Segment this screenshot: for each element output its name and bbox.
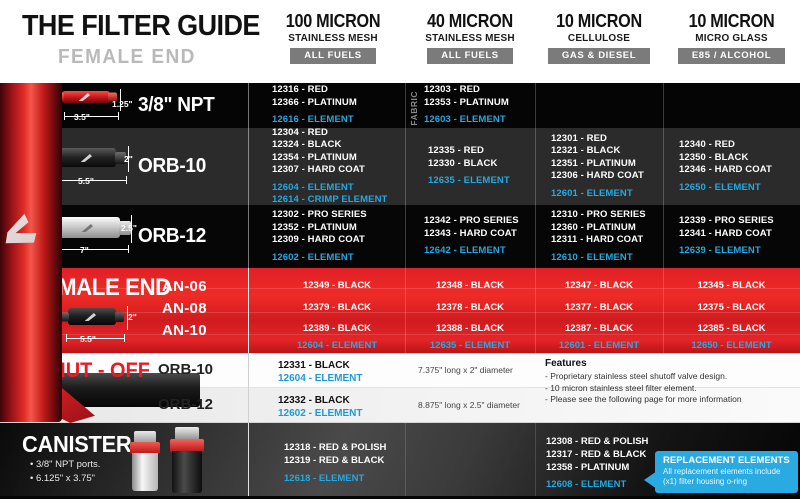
part-number: 12335 - RED xyxy=(428,145,548,158)
product-image-orb12 xyxy=(58,217,120,238)
dimension-length-npt: 3.5" xyxy=(74,112,90,122)
product-image-orb10 xyxy=(60,148,116,167)
callout-text: All replacement elements include (x1) fi… xyxy=(663,467,792,487)
part-number: 12324 - BLACK xyxy=(272,139,404,152)
product-image-npt xyxy=(62,91,110,103)
part-number: 12352 - PLATINUM xyxy=(272,222,404,235)
row-label-orb12: ORB-12 xyxy=(138,205,252,268)
part-number: 12360 - PLATINUM xyxy=(551,222,676,235)
part-number-element: 12601 - ELEMENT xyxy=(551,188,671,201)
part-number-element: 12616 - ELEMENT xyxy=(272,114,402,127)
part-number: 12316 - RED xyxy=(272,84,402,97)
cell-r1-c0: 12304 - RED 12324 - BLACK 12354 - PLATIN… xyxy=(272,128,404,205)
an-size-10: AN-10 xyxy=(162,322,207,339)
column-fuel-badge: ALL FUELS xyxy=(290,48,375,64)
canister-bullet-1: • 3/8" NPT ports. xyxy=(30,459,100,470)
cell-r1-c2: 12301 - RED 12321 - BLACK 12351 - PLATIN… xyxy=(551,128,671,205)
part-number-element: 12604 - ELEMENT xyxy=(278,372,362,385)
shutoff-row-label-orb12: ORB-12 xyxy=(158,396,213,413)
part-number: 12379 - BLACK xyxy=(272,302,402,313)
part-number: 12377 - BLACK xyxy=(535,302,663,313)
cell-r2-c2: 12310 - PRO SERIES 12360 - PLATINUM 1231… xyxy=(551,205,676,268)
part-number: 12331 - BLACK xyxy=(278,359,362,372)
part-number-element: 12604 - ELEMENT xyxy=(272,340,402,351)
part-number: 12366 - PLATINUM xyxy=(272,97,402,110)
canister-part-4: 12317 - RED & BLACK xyxy=(546,448,646,461)
fuel-bottle-image xyxy=(0,62,62,422)
cell-r2-c3: 12339 - PRO SERIES 12341 - HARD COAT 126… xyxy=(679,205,800,268)
part-number: 12387 - BLACK xyxy=(535,323,663,334)
part-number: 12310 - PRO SERIES xyxy=(551,209,676,222)
part-number-element: 12635 - ELEMENT xyxy=(428,175,548,188)
dimension-diameter-npt: 1.25" xyxy=(112,99,133,109)
part-number-element: 12642 - ELEMENT xyxy=(424,245,549,258)
column-material: CELLULOSE xyxy=(538,32,660,44)
row-label-npt: 3/8" NPT xyxy=(138,83,252,128)
cell-r0-c0: 12316 - RED 12366 - PLATINUM 12616 - ELE… xyxy=(272,83,402,128)
column-header-4: 10 MICRON MICRO GLASS E85 / ALCOHOL xyxy=(663,12,800,64)
part-number: 12378 - BLACK xyxy=(405,302,535,313)
column-micron: 40 MICRON xyxy=(412,12,529,31)
canister-part-5: 12358 - PLATINUM xyxy=(546,461,629,474)
part-number-element: 12650 - ELEMENT xyxy=(679,182,800,195)
part-number: 12342 - PRO SERIES xyxy=(424,215,549,228)
callout-title: REPLACEMENT ELEMENTS xyxy=(663,455,792,466)
row-label-orb10: ORB-10 xyxy=(138,128,252,205)
canister-bullet-2: • 6.125" x 3.75" xyxy=(30,473,95,484)
feature-item: - Proprietary stainless steel shutoff va… xyxy=(545,371,742,383)
filter-guide-page: THE FILTER GUIDE FEMALE END 100 MICRON S… xyxy=(0,0,800,499)
part-number-element: 12610 - ELEMENT xyxy=(551,252,676,265)
part-number-element: 12603 - ELEMENT xyxy=(424,114,554,127)
an-size-06: AN-06 xyxy=(162,278,207,295)
shutoff-row-label-orb10: ORB-10 xyxy=(158,361,213,378)
part-number: 12349 - BLACK xyxy=(272,280,402,291)
column-material: MICRO GLASS xyxy=(666,32,796,44)
column-material: STAINLESS MESH xyxy=(267,32,400,44)
table-row-orb10: 5.5" 2" ORB-10 12304 - RED 12324 - BLACK… xyxy=(0,128,800,205)
male-end-section: MALE END 5.5" 2" AN-06 AN-08 AN-10 123 xyxy=(0,268,800,353)
part-number: 12351 - PLATINUM xyxy=(551,158,671,171)
part-number: 12345 - BLACK xyxy=(663,280,800,291)
column-header-2: 40 MICRON STAINLESS MESH ALL FUELS xyxy=(405,12,535,64)
part-number-element: 12602 - ELEMENT xyxy=(272,252,404,265)
part-number: 12339 - PRO SERIES xyxy=(679,215,800,228)
column-header-1: 100 MICRON STAINLESS MESH ALL FUELS xyxy=(263,12,403,64)
part-number: 12388 - BLACK xyxy=(405,323,535,334)
section-label-canister: CANISTER xyxy=(22,431,131,458)
page-header: THE FILTER GUIDE FEMALE END 100 MICRON S… xyxy=(0,0,800,83)
features-title: Features xyxy=(545,358,742,369)
part-number: 12332 - BLACK xyxy=(278,394,362,407)
part-number: 12348 - BLACK xyxy=(405,280,535,291)
part-number: 12340 - RED xyxy=(679,139,800,152)
part-number-element: 12639 - ELEMENT xyxy=(679,245,800,258)
part-number: 12347 - BLACK xyxy=(535,280,663,291)
section-label-female-end: FEMALE END xyxy=(58,46,196,69)
dimension-length-male: 5.5" xyxy=(80,334,96,344)
female-end-table: 3.5" 1.25" 3/8" NPT FABRIC 12316 - RED 1… xyxy=(0,83,800,499)
product-image-male xyxy=(68,308,116,325)
part-number-element: 12650 - ELEMENT xyxy=(663,340,800,351)
replacement-elements-callout: REPLACEMENT ELEMENTS All replacement ele… xyxy=(655,451,798,493)
part-number: 12346 - HARD COAT xyxy=(679,164,800,177)
column-header-3: 10 MICRON CELLULOSE GAS & DIESEL xyxy=(535,12,663,64)
cell-r2-c0: 12302 - PRO SERIES 12352 - PLATINUM 1230… xyxy=(272,205,404,268)
column-fuel-badge: GAS & DIESEL xyxy=(548,48,650,64)
part-number-element: 12601 - ELEMENT xyxy=(535,340,663,351)
column-micron: 10 MICRON xyxy=(670,12,793,31)
part-number-element: 12635 - ELEMENT xyxy=(405,340,535,351)
canister-part-2: 12319 - RED & BLACK xyxy=(284,454,384,467)
part-number: 12302 - PRO SERIES xyxy=(272,209,404,222)
dimension-diameter-orb12: 2.5" xyxy=(121,223,137,233)
part-number: 12307 - HARD COAT xyxy=(272,164,404,177)
part-number: 12309 - HARD COAT xyxy=(272,234,404,247)
column-micron: 10 MICRON xyxy=(541,12,656,31)
part-number: 12389 - BLACK xyxy=(272,323,402,334)
part-number: 12353 - PLATINUM xyxy=(424,97,554,110)
shutoff-dims-orb12: 8.875" long x 2.5" diameter xyxy=(418,400,520,410)
cell-r0-c1: 12303 - RED 12353 - PLATINUM 12603 - ELE… xyxy=(424,83,554,128)
an-size-08: AN-08 xyxy=(162,300,207,317)
part-number: 12303 - RED xyxy=(424,84,554,97)
part-number: 12311 - HARD COAT xyxy=(551,234,676,247)
dimension-length-orb10: 5.5" xyxy=(78,176,94,186)
canister-part-3: 12308 - RED & POLISH xyxy=(546,435,648,448)
column-micron: 100 MICRON xyxy=(270,12,396,31)
dimension-length-orb12: 7" xyxy=(80,245,89,255)
canister-image-black xyxy=(168,427,206,493)
part-number: 12301 - RED xyxy=(551,133,671,146)
fabric-tag: FABRIC xyxy=(409,91,419,126)
shutoff-section: SHUT - OFF ORB-10 ORB-12 12331 - BLACK 1… xyxy=(0,353,800,423)
part-number: 12321 - BLACK xyxy=(551,145,671,158)
page-title: THE FILTER GUIDE xyxy=(22,10,260,43)
dimension-diameter-male: 2" xyxy=(128,312,137,322)
dimension-diameter-orb10: 2" xyxy=(124,154,133,164)
canister-element-1: 12618 - ELEMENT xyxy=(284,472,364,485)
part-number-element: 12604 - ELEMENT xyxy=(272,182,404,195)
cell-r1-c1: 12335 - RED 12330 - BLACK 12635 - ELEMEN… xyxy=(428,128,548,205)
feature-item: - Please see the following page for more… xyxy=(545,394,742,406)
canister-part-1: 12318 - RED & POLISH xyxy=(284,441,386,454)
part-number: 12375 - BLACK xyxy=(663,302,800,313)
cell-r1-c3: 12340 - RED 12350 - BLACK 12346 - HARD C… xyxy=(679,128,800,205)
part-number: 12341 - HARD COAT xyxy=(679,228,800,241)
feature-item: - 10 micron stainless steel filter eleme… xyxy=(545,383,742,395)
shutoff-parts-orb10: 12331 - BLACK 12604 - ELEMENT xyxy=(278,359,362,385)
part-number: 12350 - BLACK xyxy=(679,152,800,165)
part-number: 12304 - RED xyxy=(272,127,404,140)
column-material: STAINLESS MESH xyxy=(408,32,532,44)
shutoff-parts-orb12: 12332 - BLACK 12602 - ELEMENT xyxy=(278,394,362,420)
part-number: 12354 - PLATINUM xyxy=(272,152,404,165)
cell-r2-c1: 12342 - PRO SERIES 12343 - HARD COAT 126… xyxy=(424,205,549,268)
part-number: 12306 - HARD COAT xyxy=(551,170,671,183)
table-row-npt: 3.5" 1.25" 3/8" NPT FABRIC 12316 - RED 1… xyxy=(0,83,800,128)
column-fuel-badge: ALL FUELS xyxy=(427,48,512,64)
canister-element-2: 12608 - ELEMENT xyxy=(546,478,626,491)
section-label-male-end: MALE END xyxy=(58,274,171,302)
table-row-orb12: 7" 2.5" ORB-12 12302 - PRO SERIES 12352 … xyxy=(0,205,800,268)
canister-image-polish xyxy=(128,431,162,491)
column-fuel-badge: E85 / ALCOHOL xyxy=(678,48,785,64)
part-number: 12330 - BLACK xyxy=(428,158,548,171)
shutoff-dims-orb10: 7.375" long x 2" diameter xyxy=(418,365,513,375)
part-number: 12343 - HARD COAT xyxy=(424,228,549,241)
part-number: 12385 - BLACK xyxy=(663,323,800,334)
features-block: Features - Proprietary stainless steel s… xyxy=(545,358,742,406)
canister-section: CANISTER • 3/8" NPT ports. • 6.125" x 3.… xyxy=(0,423,800,499)
part-number-element: 12602 - ELEMENT xyxy=(278,407,362,420)
